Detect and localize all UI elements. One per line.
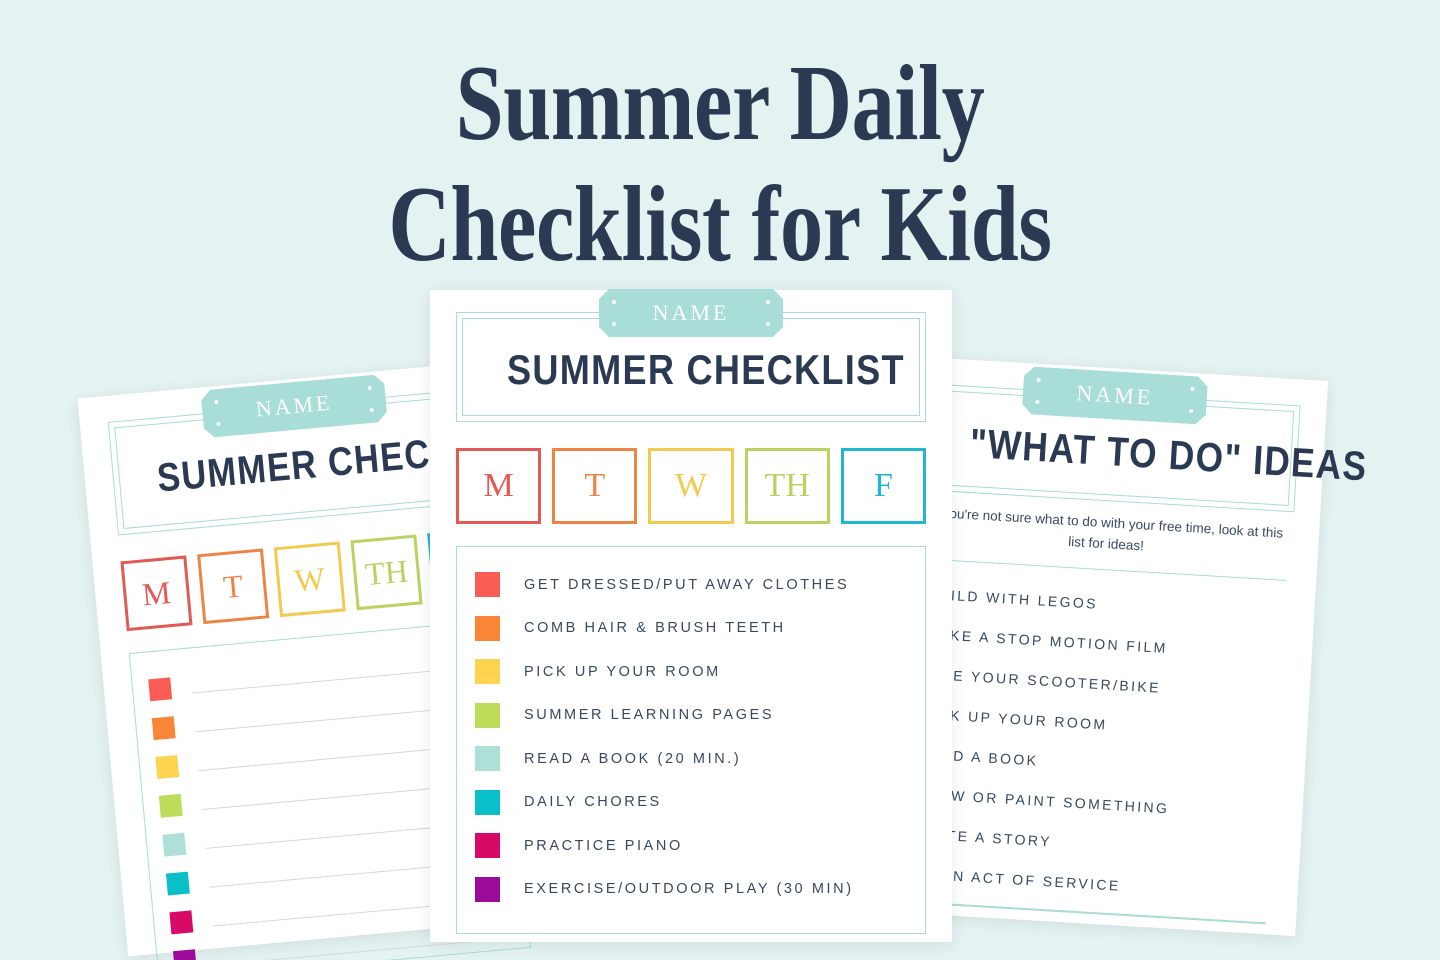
center-name-plaque[interactable]: NAME (599, 289, 783, 337)
checkbox-swatch-icon[interactable] (475, 833, 500, 858)
checklist-item-label: READ A BOOK (20 MIN.) (524, 751, 741, 767)
checklist-item[interactable]: SUMMER LEARNING PAGES (475, 694, 907, 738)
day-box-label: T (584, 467, 605, 505)
checklist-item[interactable]: PICK UP YOUR ROOM (475, 650, 907, 694)
center-day-row: MTWTHF (456, 448, 926, 524)
center-name-plaque-label: NAME (653, 300, 730, 326)
day-box-m[interactable]: M (120, 555, 192, 631)
day-box-label: T (222, 567, 245, 606)
day-box-w[interactable]: W (648, 448, 733, 524)
day-box-th[interactable]: TH (745, 448, 830, 524)
plaque-dots-right-icon (1189, 387, 1195, 413)
page-title: Summer Daily Checklist for Kids (144, 44, 1296, 286)
day-box-label: M (141, 574, 173, 613)
day-box-m[interactable]: M (456, 448, 541, 524)
checklist-item[interactable]: DAILY CHORES (475, 781, 907, 825)
right-card-subtitle: If you're not sure what to do with your … (920, 502, 1294, 566)
day-box-label: W (675, 467, 707, 505)
checkbox-swatch-icon[interactable] (475, 746, 500, 771)
center-card-title-frame: NAME SUMMER CHECKLIST (456, 312, 926, 422)
checkbox-swatch-icon[interactable] (166, 871, 190, 895)
left-card-title: SUMMER CHECKLIST (156, 433, 444, 499)
checkbox-swatch-icon[interactable] (173, 949, 197, 960)
center-card-title: SUMMER CHECKLIST (507, 349, 875, 391)
plaque-dots-left-icon (612, 300, 616, 326)
right-card-title: "WHAT TO DO" IDEAS (969, 423, 1255, 481)
day-box-f[interactable]: F (841, 448, 926, 524)
day-box-label: W (293, 560, 326, 600)
plaque-dots-left-icon (1035, 378, 1041, 404)
day-box-label: F (874, 467, 893, 505)
checklist-item[interactable]: COMB HAIR & BRUSH TEETH (475, 607, 907, 651)
day-box-label: TH (765, 467, 810, 505)
day-box-label: M (483, 467, 513, 505)
checkbox-swatch-icon[interactable] (475, 616, 500, 641)
checkbox-swatch-icon[interactable] (475, 703, 500, 728)
plaque-dots-right-icon (368, 386, 374, 412)
plaque-dots-left-icon (214, 400, 220, 426)
checkbox-swatch-icon[interactable] (159, 793, 183, 817)
day-box-label: TH (364, 552, 410, 593)
checklist-item-label: GET DRESSED/PUT AWAY CLOTHES (524, 577, 849, 593)
checklist-item[interactable]: PRACTICE PIANO (475, 824, 907, 868)
checkbox-swatch-icon[interactable] (162, 832, 186, 856)
day-box-th[interactable]: TH (350, 534, 422, 610)
checkbox-swatch-icon[interactable] (475, 659, 500, 684)
checklist-item-label: PRACTICE PIANO (524, 838, 683, 854)
checkbox-swatch-icon[interactable] (155, 755, 179, 779)
checkbox-swatch-icon[interactable] (152, 716, 176, 740)
day-box-t[interactable]: T (197, 548, 269, 624)
checkbox-swatch-icon[interactable] (169, 910, 193, 934)
right-card-title-frame: NAME "WHAT TO DO" IDEAS (923, 383, 1301, 512)
checkbox-swatch-icon[interactable] (148, 677, 172, 701)
right-name-plaque-label: NAME (1076, 380, 1154, 411)
checklist-item-label: COMB HAIR & BRUSH TEETH (524, 620, 786, 636)
left-name-plaque-label: NAME (255, 390, 334, 423)
checklist-item-label: PICK UP YOUR ROOM (524, 664, 721, 680)
checklist-item[interactable]: GET DRESSED/PUT AWAY CLOTHES (475, 563, 907, 607)
center-checklist-card[interactable]: NAME SUMMER CHECKLIST MTWTHF GET DRESSED… (430, 290, 952, 942)
checkbox-swatch-icon[interactable] (475, 572, 500, 597)
day-box-w[interactable]: W (274, 541, 346, 617)
checklist-item-label: EXERCISE/OUTDOOR PLAY (30 MIN) (524, 881, 854, 897)
center-checklist-frame: GET DRESSED/PUT AWAY CLOTHESCOMB HAIR & … (456, 546, 926, 934)
checklist-item-label: SUMMER LEARNING PAGES (524, 707, 774, 723)
checkbox-swatch-icon[interactable] (475, 877, 500, 902)
checklist-item[interactable]: EXERCISE/OUTDOOR PLAY (30 MIN) (475, 868, 907, 912)
plaque-dots-right-icon (766, 300, 770, 326)
checklist-item-label: DAILY CHORES (524, 794, 662, 810)
checkbox-swatch-icon[interactable] (475, 790, 500, 815)
right-ideas-list: BUILD WITH LEGOSMAKE A STOP MOTION FILMR… (899, 563, 1290, 914)
day-box-t[interactable]: T (552, 448, 637, 524)
checklist-item[interactable]: READ A BOOK (20 MIN.) (475, 737, 907, 781)
